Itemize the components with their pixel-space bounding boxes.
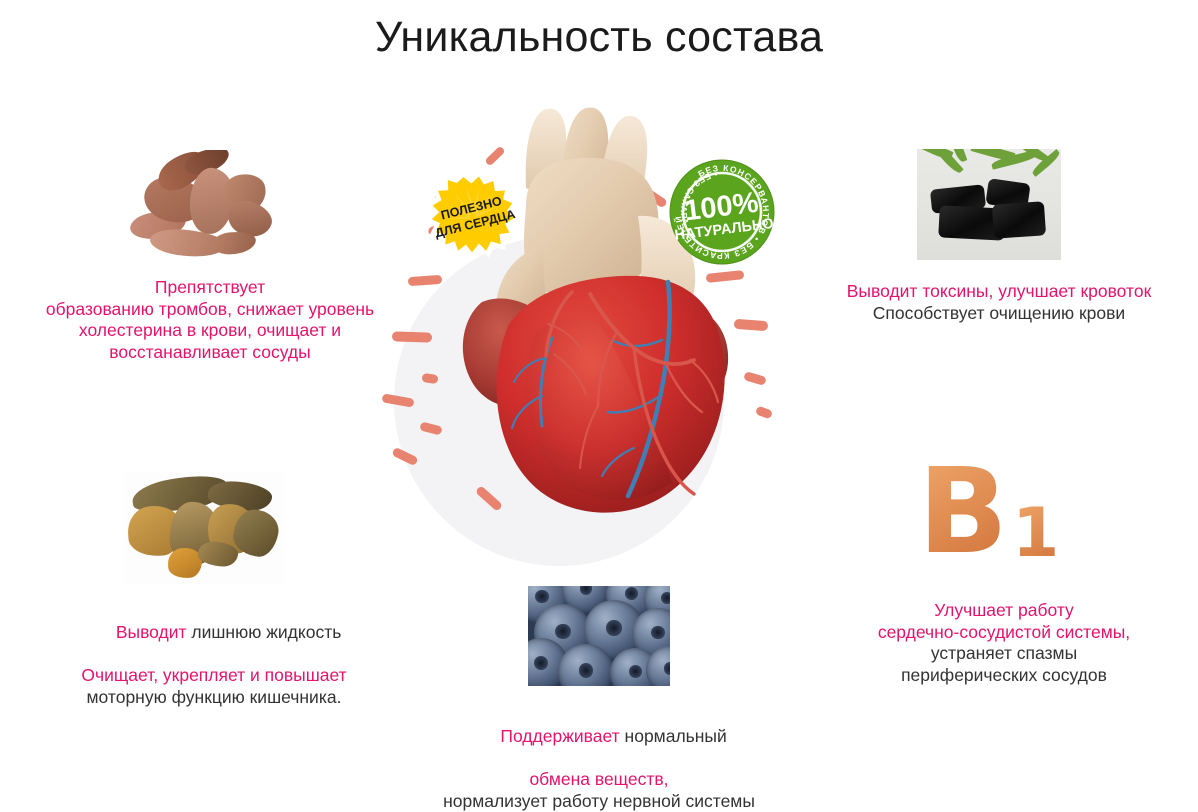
caption-line: периферических сосудов (810, 665, 1198, 687)
charcoal-photo-inner (917, 149, 1061, 260)
caption-line: Улучшает работу (810, 600, 1198, 622)
bark-chip (211, 230, 257, 256)
ingredient-image-bark (128, 150, 276, 268)
ingredient-image-vitamin-b1: B 1 (900, 464, 1060, 582)
starburst-svg: ПОЛЕЗНО ДЛЯ СЕРДЦА (424, 168, 522, 262)
ingredient-caption-resin: Выводит лишнюю жидкость Очищает, укрепля… (18, 600, 410, 708)
caption-line: обмена веществ, (399, 769, 799, 791)
natural-seal-svg: БЕЗ КОНСЕРВАНТОВ • БЕЗ КРАСИТЕЛЕЙ • БЕЗ … (668, 158, 776, 266)
caption-line: моторную функцию кишечника. (18, 687, 410, 709)
caption-line: Очищает, укрепляет и повышает (18, 665, 410, 687)
caption-segment: Поддерживает (500, 726, 624, 746)
caption-line: сердечно-сосудистой системы, (810, 622, 1198, 644)
ingredient-image-charcoal (917, 149, 1061, 260)
charcoal-piece (992, 201, 1046, 239)
resin-photo-inner (124, 472, 284, 584)
bark-photo-inner (128, 150, 276, 268)
caption-line: Препятствует (10, 277, 410, 299)
caption-line: нормализует работу нервной системы (399, 791, 799, 812)
hundred-percent-natural-badge: БЕЗ КОНСЕРВАНТОВ • БЕЗ КРАСИТЕЛЕЙ • БЕЗ … (668, 158, 776, 266)
caption-segment: нормальный (625, 726, 727, 746)
caption-line: Выводит токсины, улучшает кровоток (800, 281, 1198, 303)
blueberry-photo-inner (528, 586, 670, 686)
caption-line: образованию тромбов, снижает уровень (10, 299, 410, 321)
vitamin-b1-subscript: 1 (1012, 500, 1059, 568)
useful-for-heart-badge: ПОЛЕЗНО ДЛЯ СЕРДЦА (424, 168, 522, 262)
infographic-page: Уникальность состава Препятствует образо… (0, 0, 1198, 789)
ingredient-image-blueberry (528, 586, 670, 686)
vitamin-b1-letter: B (918, 464, 1008, 570)
ingredient-caption-bark: Препятствует образованию тромбов, снижае… (10, 277, 410, 364)
caption-segment: Выводит (116, 622, 192, 642)
vitamin-b1-inner: B 1 (900, 464, 1060, 582)
caption-line: Выводит лишнюю жидкость (18, 600, 410, 665)
caption-line: восстанавливает сосуды (10, 342, 410, 364)
ingredient-image-resin (124, 472, 284, 584)
ingredient-caption-vitamin-b1: Улучшает работу сердечно-сосудистой сист… (810, 600, 1198, 687)
page-title: Уникальность состава (0, 14, 1198, 61)
caption-segment: лишнюю жидкость (191, 622, 341, 642)
caption-line: Поддерживает нормальный (399, 704, 799, 769)
ingredient-caption-blueberry: Поддерживает нормальный обмена веществ, … (399, 704, 799, 812)
ingredient-caption-charcoal: Выводит токсины, улучшает кровоток Спосо… (800, 281, 1198, 324)
caption-line: Способствует очищению крови (800, 303, 1198, 325)
caption-line: холестерина в крови, очищает и (10, 320, 410, 342)
caption-line: устраняет спазмы (810, 643, 1198, 665)
